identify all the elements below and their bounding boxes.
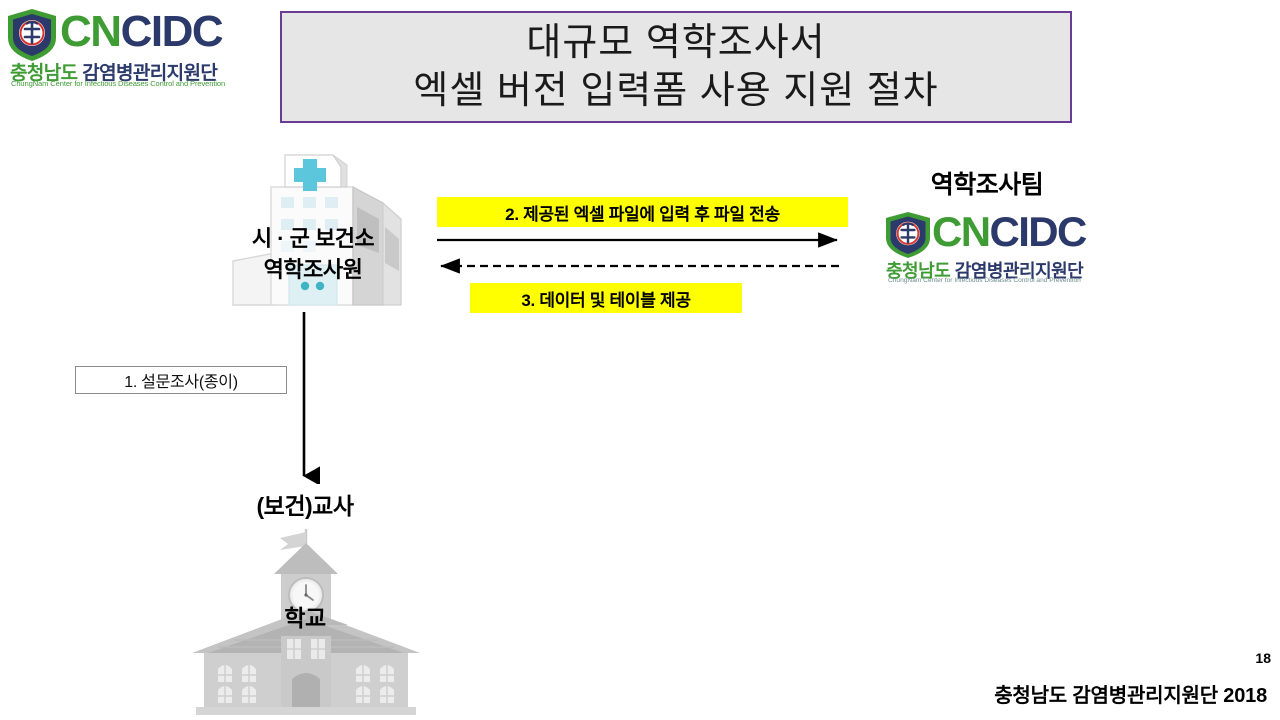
step-2-label: 2. 제공된 엑셀 파일에 입력 후 파일 전송 — [437, 197, 848, 227]
step-1-label: 1. 설문조사(종이) — [75, 366, 287, 394]
health-center-label: 시 · 군 보건소 역학조사원 — [213, 223, 413, 285]
cncidc-shield-icon — [884, 211, 932, 259]
team-logo-wordmark: CNCIDC — [932, 205, 1086, 259]
team-word-cidc: CIDC — [989, 208, 1085, 255]
brand-logo: CNCIDC 충청남도 감염병관리지원단 ChungNam Center for… — [4, 6, 206, 92]
team-logo-english-subtitle: ChungNam Center for Infectious Diseases … — [888, 277, 1081, 284]
investigation-team-node: 역학조사팀 CNCIDC 충청남도 감염병관리지원단 ChungNam Cent… — [872, 165, 1102, 290]
investigation-team-title: 역학조사팀 — [872, 165, 1102, 201]
brand-word-cidc: CIDC — [121, 7, 223, 56]
school-teacher-label: (보건)교사 — [180, 487, 430, 521]
slide-title-line-1: 대규모 역학조사서 — [526, 19, 825, 67]
team-cncidc-logo: CNCIDC 충청남도 감염병관리지원단 ChungNam Center for… — [884, 209, 1090, 289]
step-3-label: 3. 데이터 및 테이블 제공 — [470, 283, 742, 313]
health-center-label-line-2: 역학조사원 — [213, 254, 413, 285]
cncidc-shield-icon — [6, 8, 58, 62]
slide-title-line-2: 엑셀 버전 입력폼 사용 지원 절차 — [413, 67, 938, 115]
brand-word-cn: CN — [60, 7, 121, 56]
school-inner-label: 학교 — [180, 599, 430, 633]
brand-wordmark: CNCIDC — [60, 4, 222, 60]
downward-arrow — [288, 308, 320, 484]
health-center-node: 시 · 군 보건소 역학조사원 — [213, 145, 413, 315]
slide-title-banner: 대규모 역학조사서 엑셀 버전 입력폼 사용 지원 절차 — [280, 11, 1072, 123]
slide-canvas: CNCIDC 충청남도 감염병관리지원단 ChungNam Center for… — [0, 0, 1280, 720]
brand-english-subtitle: ChungNam Center for Infectious Diseases … — [11, 79, 225, 88]
health-center-label-line-1: 시 · 군 보건소 — [213, 223, 413, 254]
team-word-cn: CN — [932, 208, 989, 255]
school-node: (보건)교사 — [180, 487, 430, 720]
exchange-arrows — [425, 228, 850, 283]
page-number: 18 — [1255, 650, 1271, 666]
footer-organization: 충청남도 감염병관리지원단 2018 — [994, 679, 1267, 708]
brand-logo-row: CNCIDC — [4, 6, 206, 62]
